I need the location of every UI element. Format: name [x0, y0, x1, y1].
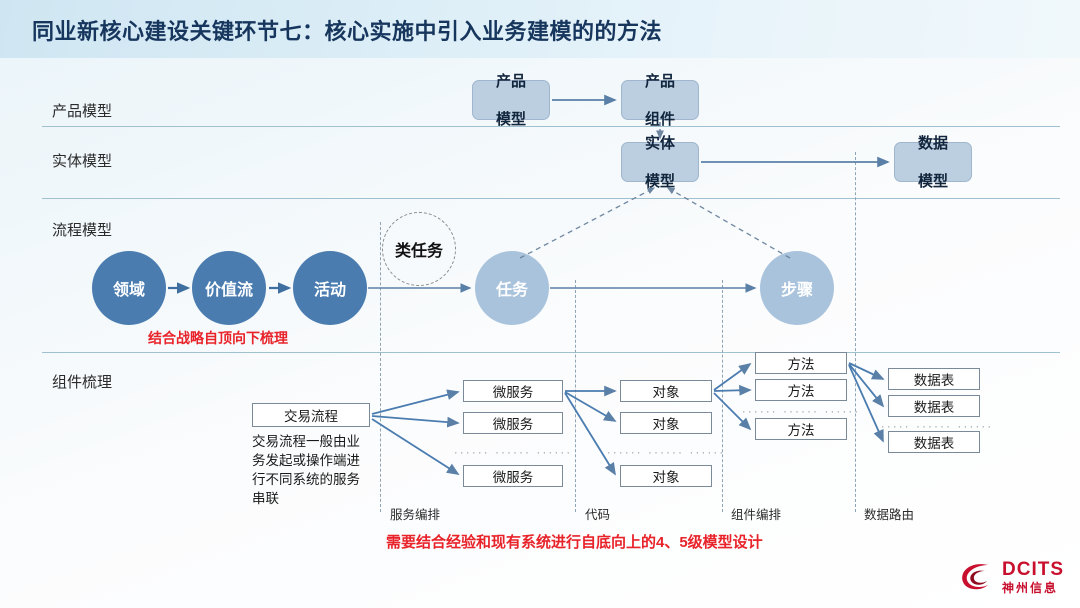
logo-text-en: DCITS [1002, 560, 1064, 579]
column-separator-2 [575, 280, 576, 512]
box-entity-model-line2: 模型 [645, 172, 675, 191]
box-microservice-2[interactable]: 微服务 [463, 412, 563, 434]
box-product-model-line1: 产品 [496, 72, 526, 91]
divider-entity-process [42, 198, 1060, 199]
box-data-model-line2: 模型 [918, 172, 948, 191]
box-microservice-3[interactable]: 微服务 [463, 465, 563, 487]
circle-task-class[interactable]: 类任务 [382, 212, 456, 286]
box-product-model[interactable]: 产品 模型 [472, 80, 550, 120]
box-data-model[interactable]: 数据 模型 [894, 142, 972, 182]
circle-domain[interactable]: 领域 [92, 251, 166, 325]
column-separator-4 [855, 152, 856, 512]
column-label-code: 代码 [585, 504, 610, 523]
box-object-1[interactable]: 对象 [620, 380, 712, 402]
box-entity-model-line1: 实体 [645, 134, 675, 153]
slide-canvas: 同业新核心建设关键环节七：核心实施中引入业务建模的的方法 产品模型 实体模型 流… [0, 0, 1080, 608]
circle-step[interactable]: 步骤 [760, 251, 834, 325]
box-object-3[interactable]: 对象 [620, 465, 712, 487]
row-label-product: 产品模型 [52, 100, 112, 121]
brand-logo: DCITS 神州信息 [958, 560, 1064, 594]
column-label-component-orchestration: 组件编排 [731, 504, 781, 523]
dcits-swirl-icon [958, 560, 996, 594]
box-data-table-2[interactable]: 数据表 [888, 395, 980, 417]
circle-activity[interactable]: 活动 [293, 251, 367, 325]
divider-product-entity [42, 126, 1060, 127]
microservice-ellipsis: ······ ······ ······ [463, 444, 563, 460]
column-separator-3 [722, 280, 723, 512]
box-product-component-line1: 产品 [645, 72, 675, 91]
box-product-model-line2: 模型 [496, 110, 526, 129]
object-ellipsis: ······ ······ ······ [620, 444, 712, 460]
column-label-service-orchestration: 服务编排 [390, 504, 440, 523]
box-product-component[interactable]: 产品 组件 [621, 80, 699, 120]
box-data-model-line1: 数据 [918, 134, 948, 153]
box-microservice-1[interactable]: 微服务 [463, 380, 563, 402]
box-object-2[interactable]: 对象 [620, 412, 712, 434]
row-label-process: 流程模型 [52, 219, 112, 240]
row-label-entity: 实体模型 [52, 150, 112, 171]
box-method-1[interactable]: 方法 [755, 352, 847, 374]
column-separator-1 [380, 222, 381, 512]
box-method-2[interactable]: 方法 [755, 379, 847, 401]
box-method-3[interactable]: 方法 [755, 418, 847, 440]
method-ellipsis: ······ ······ ······ [755, 403, 847, 419]
process-note: 结合战略自顶向下梳理 [148, 328, 288, 348]
bottom-note: 需要结合经验和现有系统进行自底向上的4、5级模型设计 [386, 531, 763, 552]
page-title: 同业新核心建设关键环节七：核心实施中引入业务建模的的方法 [32, 14, 662, 46]
circle-value-stream[interactable]: 价值流 [192, 251, 266, 325]
box-data-table-3[interactable]: 数据表 [888, 431, 980, 453]
row-label-component: 组件梳理 [52, 371, 112, 392]
box-transaction-flow[interactable]: 交易流程 [252, 403, 370, 427]
logo-text-cn: 神州信息 [1002, 582, 1064, 594]
circle-task[interactable]: 任务 [475, 251, 549, 325]
transaction-flow-description: 交易流程一般由业务发起或操作端进行不同系统的服务串联 [252, 432, 360, 508]
box-data-table-1[interactable]: 数据表 [888, 368, 980, 390]
box-product-component-line2: 组件 [645, 110, 675, 129]
divider-process-component [42, 352, 1060, 353]
box-entity-model[interactable]: 实体 模型 [621, 142, 699, 182]
column-label-data-routing: 数据路由 [864, 504, 914, 523]
